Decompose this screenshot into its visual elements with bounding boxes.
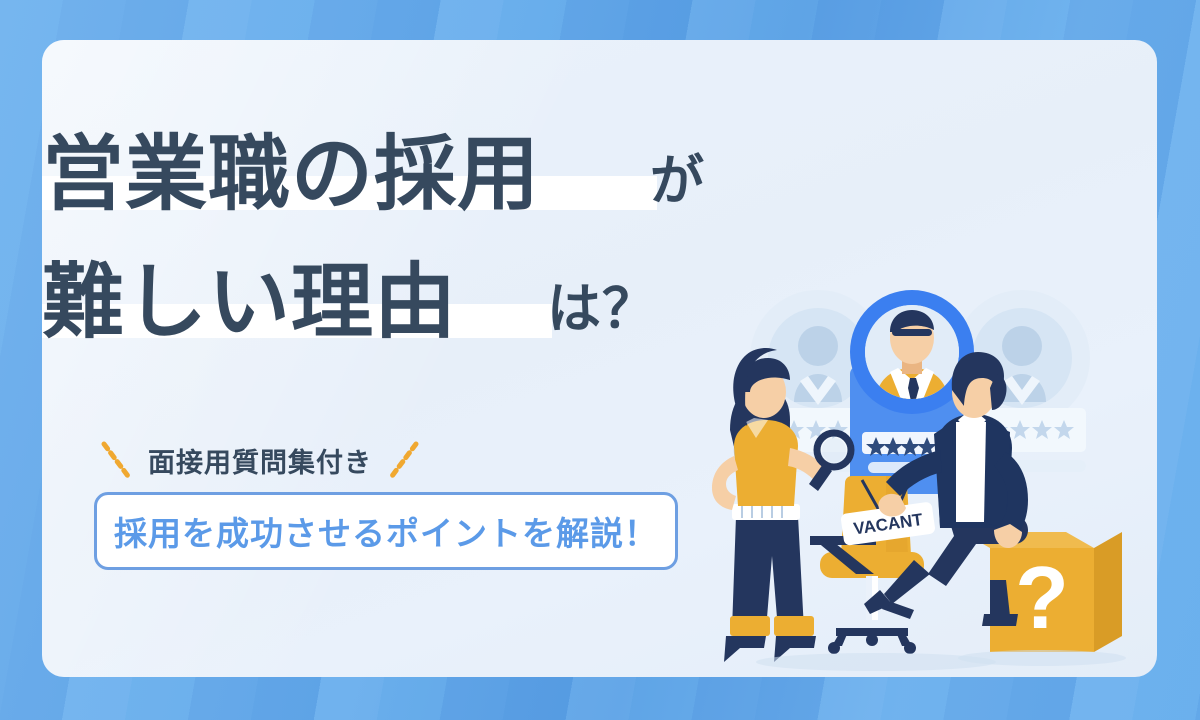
recruitment-hero-illustration: VACANT [690, 280, 1150, 680]
cta-label: 採用を成功させるポイントを解説！ [114, 507, 658, 555]
dashed-slash-left-icon [100, 438, 134, 482]
subtitle-row: 面接用質問集付き [100, 438, 420, 482]
headline-block: 営業職の採用 が 難しい理由 は？ [42, 98, 722, 354]
headline-line-2: 難しい理由 は？ [42, 226, 722, 354]
headline-line-1-tail: が [650, 154, 705, 208]
headline-line-1-main: 営業職の採用 [42, 134, 540, 216]
headline-line-1: 営業職の採用 が [42, 98, 722, 226]
headline-line-2-tail: は？ [547, 282, 657, 336]
poster-stage: 営業職の採用 が 難しい理由 は？ 面接用質問集付き 採用を成功させるポイントを… [0, 0, 1200, 720]
subtitle-text: 面接用質問集付き [148, 441, 372, 480]
question-mark-label: ? [1015, 548, 1069, 647]
cta-box[interactable]: 採用を成功させるポイントを解説！ [94, 492, 678, 570]
headline-line-2-main: 難しい理由 [42, 262, 457, 344]
dashed-slash-right-icon [386, 438, 420, 482]
